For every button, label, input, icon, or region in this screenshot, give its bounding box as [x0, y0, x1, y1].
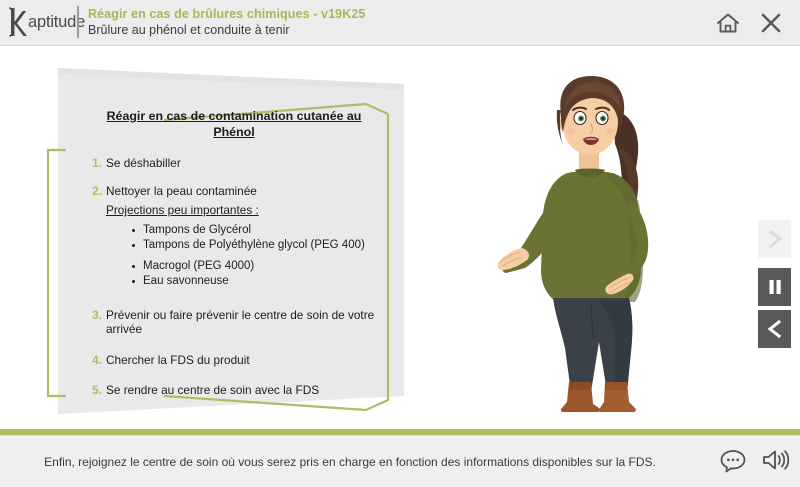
list-item: 1. Se déshabiller: [84, 156, 384, 171]
close-icon[interactable]: [757, 9, 785, 37]
logo-k-icon: [8, 7, 27, 37]
step-text: Se rendre au centre de soin avec la FDS: [106, 383, 319, 397]
slide-stage: Réagir en cas de contamination cutanée a…: [0, 46, 800, 429]
list-item: 4. Chercher la FDS du produit: [84, 353, 384, 368]
home-icon[interactable]: [714, 9, 742, 37]
presenter-character-illustration: [495, 52, 705, 412]
sub-items-list: Tampons de Glycérol Tampons de Polyéthyl…: [106, 223, 384, 290]
content-heading: Réagir en cas de contamination cutanée a…: [84, 108, 384, 140]
slide-content: Réagir en cas de contamination cutanée a…: [84, 108, 384, 411]
app-header: aptitude Réagir en cas de brûlures chimi…: [0, 0, 800, 46]
speech-bubble-icon[interactable]: [718, 445, 748, 475]
narration-caption: Enfin, rejoignez le centre de soin où vo…: [0, 454, 700, 470]
list-item: Tampons de Polyéthylène glycol (PEG 400): [132, 238, 384, 254]
next-slide-button[interactable]: [758, 220, 791, 258]
sub-heading: Projections peu importantes :: [106, 203, 384, 218]
list-item: 3. Prévenir ou faire prévenir le centre …: [84, 308, 384, 337]
pause-button[interactable]: [758, 268, 791, 306]
step-text: Se déshabiller: [106, 156, 181, 170]
step-number: 5.: [84, 383, 102, 398]
step-number: 3.: [84, 308, 102, 323]
previous-slide-button[interactable]: [758, 310, 791, 348]
step-text: Chercher la FDS du produit: [106, 353, 250, 367]
list-item: Macrogol (PEG 4000): [132, 259, 384, 275]
steps-list: 1. Se déshabiller 2. Nettoyer la peau co…: [84, 156, 384, 398]
step-number: 4.: [84, 353, 102, 368]
header-text-block: Réagir en cas de brûlures chimiques - v1…: [88, 6, 365, 39]
step-number: 1.: [84, 156, 102, 171]
step-text: Prévenir ou faire prévenir le centre de …: [106, 308, 374, 337]
step-text: Nettoyer la peau contaminée: [106, 184, 257, 198]
list-item: Tampons de Glycérol: [132, 223, 384, 239]
volume-icon[interactable]: [760, 445, 790, 475]
step-number: 2.: [84, 184, 102, 199]
footer-bar: Enfin, rejoignez le centre de soin où vo…: [0, 435, 800, 487]
course-subtitle: Brûlure au phénol et conduite à tenir: [88, 22, 365, 39]
list-item: 5. Se rendre au centre de soin avec la F…: [84, 383, 384, 398]
list-item: 2. Nettoyer la peau contaminée Projectio…: [84, 184, 384, 290]
course-title: Réagir en cas de brûlures chimiques - v1…: [88, 6, 365, 22]
elearning-player: aptitude Réagir en cas de brûlures chimi…: [0, 0, 800, 487]
kaptitude-logo: aptitude: [8, 7, 96, 37]
header-divider: [77, 6, 79, 38]
list-item: Eau savonneuse: [132, 274, 384, 290]
